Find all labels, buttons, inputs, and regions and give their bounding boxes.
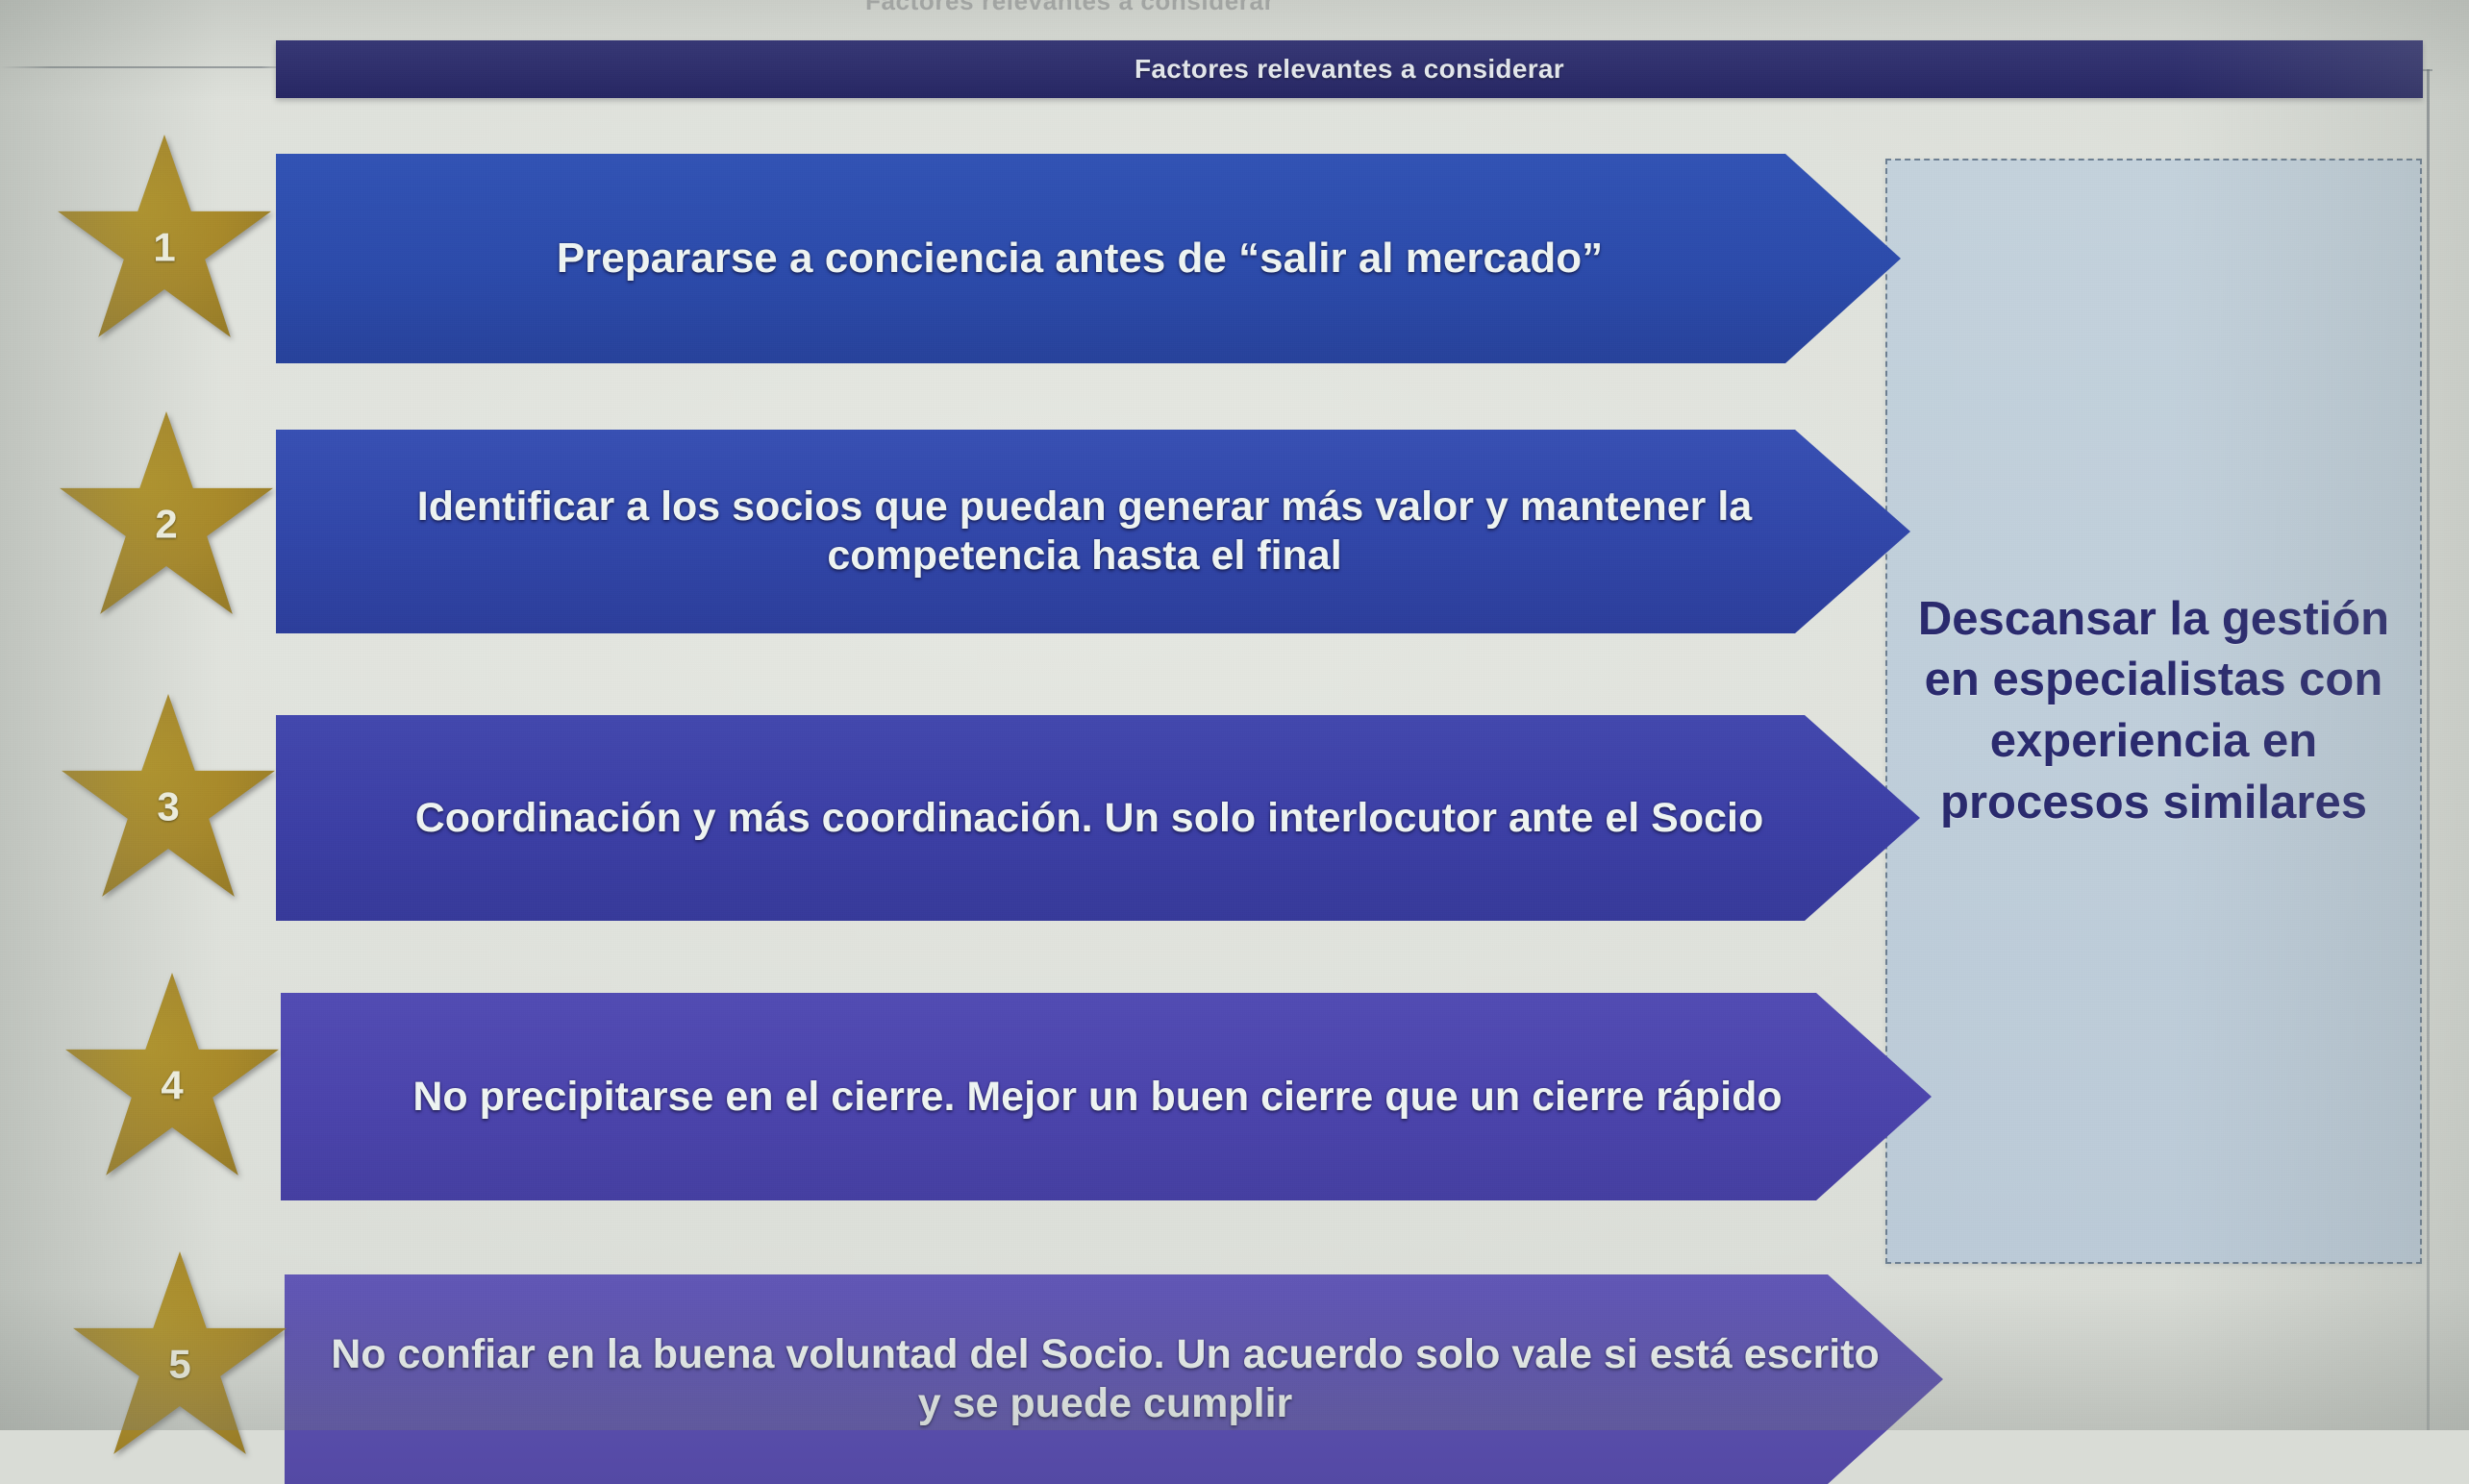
step-arrow-label-4: No precipitarse en el cierre. Mejor un b… [380,1073,1832,1122]
step-star-5: 5 [73,1251,287,1465]
top-cutoff-text: Factores relevantes a considerar [865,0,1654,12]
step-arrow-label-1: Prepararse a conciencia antes de “salir … [524,234,1653,284]
step-star-4: 4 [65,973,279,1186]
step-arrow-label-2: Identificar a los socios que puedan gene… [276,482,1910,580]
page-title: Factores relevantes a considerar [276,54,2423,85]
step-arrow-label-3: Coordinación y más coordinación. Un solo… [383,794,1813,843]
step-arrow-1[interactable]: Prepararse a conciencia antes de “salir … [276,154,1901,363]
step-number-5: 5 [168,1342,190,1388]
step-number-2: 2 [155,502,177,548]
step-arrow-5[interactable]: No confiar en la buena voluntad del Soci… [285,1274,1943,1484]
step-star-3: 3 [62,694,275,907]
step-number-1: 1 [153,225,175,271]
step-star-1: 1 [58,135,271,348]
slide-header-bar: Factores relevantes a considerar [276,40,2423,98]
step-arrow-4[interactable]: No precipitarse en el cierre. Mejor un b… [281,993,1932,1200]
step-number-3: 3 [157,784,179,830]
slide-canvas: Factores relevantes a considerar Factore… [0,0,2469,1430]
slide-edge-line-right [2427,69,2430,1430]
step-star-2: 2 [60,411,273,625]
step-arrow-2[interactable]: Identificar a los socios que puedan gene… [276,430,1910,633]
step-arrow-3[interactable]: Coordinación y más coordinación. Un solo… [276,715,1920,921]
side-panel[interactable]: Descansar la gestión en especialistas co… [1886,160,2421,1263]
step-number-4: 4 [161,1063,183,1109]
step-arrow-label-5: No confiar en la buena voluntad del Soci… [285,1330,1943,1427]
side-panel-text: Descansar la gestión en especialistas co… [1886,589,2421,834]
slide-edge-line-left [0,66,284,68]
